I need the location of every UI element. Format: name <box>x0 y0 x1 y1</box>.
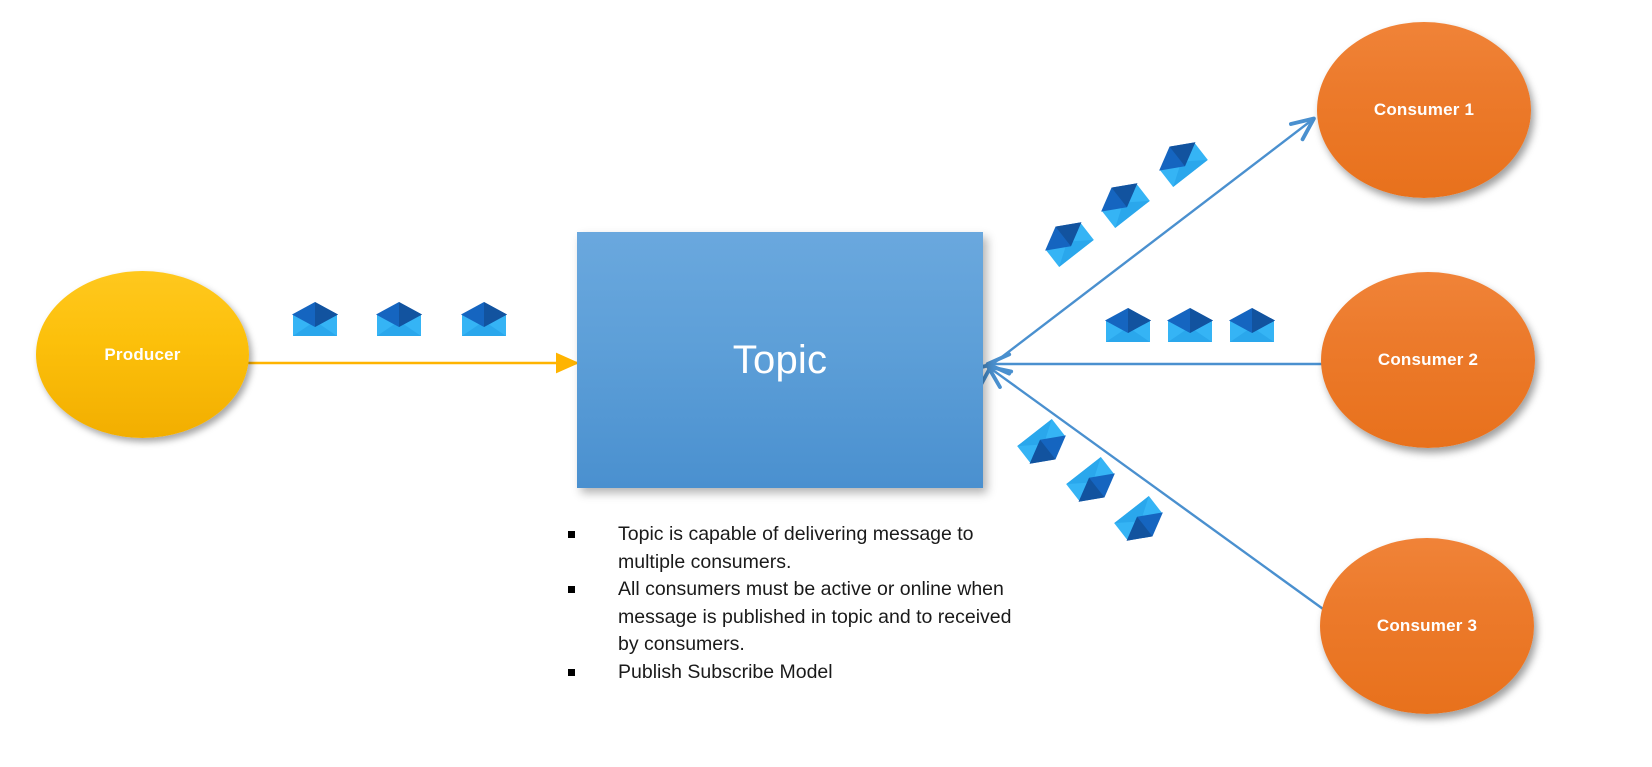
topic-node[interactable]: Topic <box>577 232 983 488</box>
envelope-icon <box>460 301 508 337</box>
consumer-1-node[interactable]: Consumer 1 <box>1317 22 1531 198</box>
notes-list: Topic is capable of delivering message t… <box>560 521 1020 686</box>
list-item: Publish Subscribe Model <box>560 659 1020 687</box>
producer-label: Producer <box>104 345 180 365</box>
envelope-icon <box>375 301 423 337</box>
list-item-text: Publish Subscribe Model <box>618 661 833 683</box>
diagram-canvas: Producer Topic Consumer 1 Consumer 2 Con… <box>0 0 1652 767</box>
bullet-square-icon <box>568 669 575 676</box>
connector-topic-to-consumer-3 <box>990 368 1330 614</box>
envelope-icon <box>291 301 339 337</box>
consumer-3-node[interactable]: Consumer 3 <box>1320 538 1534 714</box>
consumer-3-label: Consumer 3 <box>1377 616 1477 636</box>
bullet-square-icon <box>568 531 575 538</box>
bullet-square-icon <box>568 586 575 593</box>
consumer-1-label: Consumer 1 <box>1374 100 1474 120</box>
producer-node[interactable]: Producer <box>36 271 249 438</box>
list-item-text: All consumers must be active or online w… <box>618 578 1012 655</box>
consumer-2-label: Consumer 2 <box>1378 350 1478 370</box>
envelope-icon <box>1104 307 1152 343</box>
topic-label: Topic <box>733 338 827 383</box>
list-item-text: Topic is capable of delivering message t… <box>618 523 974 573</box>
envelope-icon <box>1166 307 1214 343</box>
list-item: Topic is capable of delivering message t… <box>560 521 1020 576</box>
list-item: All consumers must be active or online w… <box>560 576 1020 659</box>
consumer-2-node[interactable]: Consumer 2 <box>1321 272 1535 448</box>
envelope-icon <box>1228 307 1276 343</box>
